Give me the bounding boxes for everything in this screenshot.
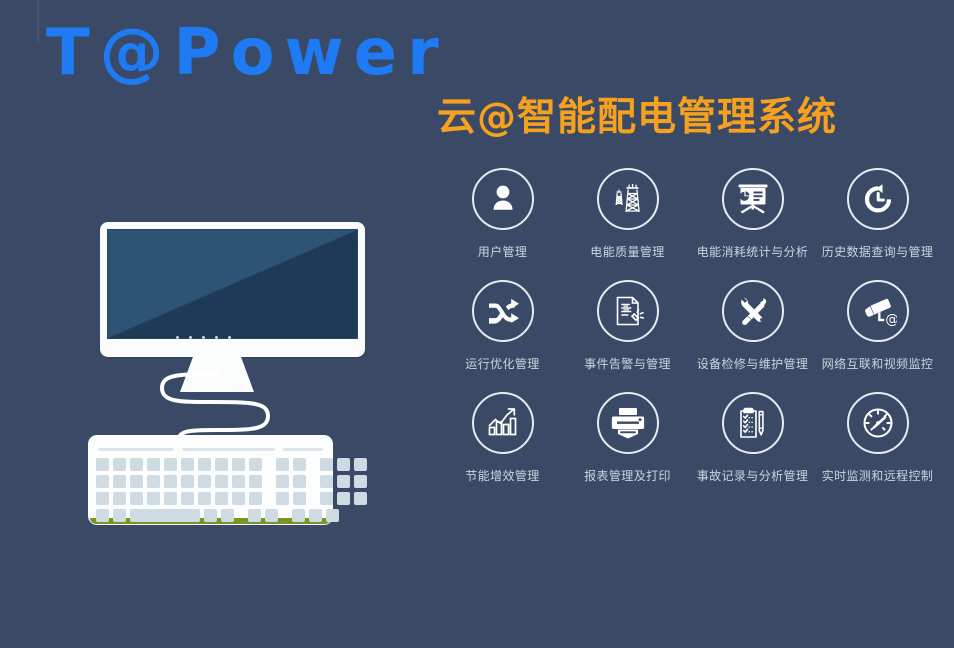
growth-bar-chart-icon [484,404,522,442]
shuffle-arrows-icon [485,293,521,329]
icon-circle [472,392,534,454]
user-icon [486,182,520,216]
wrench-screwdriver-icon [735,293,771,329]
power-tower-icon [610,181,646,217]
feature-item-video-monitoring[interactable]: @ 网络互联和视频监控 [815,280,940,370]
feature-row: 用户管理 [440,168,940,258]
feature-row: 运行优化管理 事件告警与管理 [440,280,940,370]
icon-circle [722,168,784,230]
keyboard-keys [96,458,326,526]
poster-canvas: T@Power 云@智能配电管理系统 [0,0,954,648]
feature-item-history-data[interactable]: 历史数据查询与管理 [815,168,940,258]
feature-label: 用户管理 [478,246,528,258]
clock-rewind-icon [860,181,896,217]
monitor-indicator-dots [176,336,231,340]
feature-label: 历史数据查询与管理 [822,246,934,258]
presentation-chart-icon [734,180,772,218]
feature-label: 报表管理及打印 [584,470,671,482]
icon-circle [472,280,534,342]
feature-item-event-alarm[interactable]: 事件告警与管理 [565,280,690,370]
top-left-artifact-line [37,0,39,42]
feature-grid: 用户管理 [440,168,940,504]
keyboard-function-row [98,448,323,451]
desktop-computer-illustration [80,210,390,540]
icon-circle: @ [847,280,909,342]
icon-circle [597,280,659,342]
feature-row: 节能增效管理 报表管理及打印 [440,392,940,482]
security-camera-at-icon: @ [859,292,897,330]
brand-subtitle: 云@智能配电管理系统 [437,96,837,141]
feature-label: 实时监测和远程控制 [822,470,934,482]
feature-item-user-management[interactable]: 用户管理 [440,168,565,258]
icon-circle [597,168,659,230]
icon-circle [722,392,784,454]
feature-label: 网络互联和视频监控 [822,358,934,370]
icon-circle [847,168,909,230]
feature-item-consumption-analysis[interactable]: 电能消耗统计与分析 [690,168,815,258]
gauge-icon [859,404,897,442]
monitor-bezel [100,222,365,357]
feature-label: 运行优化管理 [465,358,539,370]
feature-item-energy-saving[interactable]: 节能增效管理 [440,392,565,482]
icon-circle [847,392,909,454]
feature-label: 电能消耗统计与分析 [697,246,809,258]
feature-label: 节能增效管理 [465,470,539,482]
icon-circle [722,280,784,342]
monitor-screen [107,229,358,339]
icon-circle [597,392,659,454]
feature-label: 电能质量管理 [590,246,664,258]
feature-item-report-printing[interactable]: 报表管理及打印 [565,392,690,482]
feature-item-operation-optimization[interactable]: 运行优化管理 [440,280,565,370]
feature-item-realtime-control[interactable]: 实时监测和远程控制 [815,392,940,482]
brand-title: T@Power [46,18,449,88]
printer-icon [609,404,647,442]
feature-label: 事件告警与管理 [584,358,671,370]
feature-item-incident-records[interactable]: 事故记录与分析管理 [690,392,815,482]
clipboard-checklist-icon [734,404,772,442]
feature-item-maintenance[interactable]: 设备检修与维护管理 [690,280,815,370]
svg-text:@: @ [885,311,897,327]
feature-label: 事故记录与分析管理 [697,470,809,482]
feature-label: 设备检修与维护管理 [697,358,809,370]
document-alert-icon [610,293,646,329]
icon-circle [472,168,534,230]
feature-item-power-quality[interactable]: 电能质量管理 [565,168,690,258]
